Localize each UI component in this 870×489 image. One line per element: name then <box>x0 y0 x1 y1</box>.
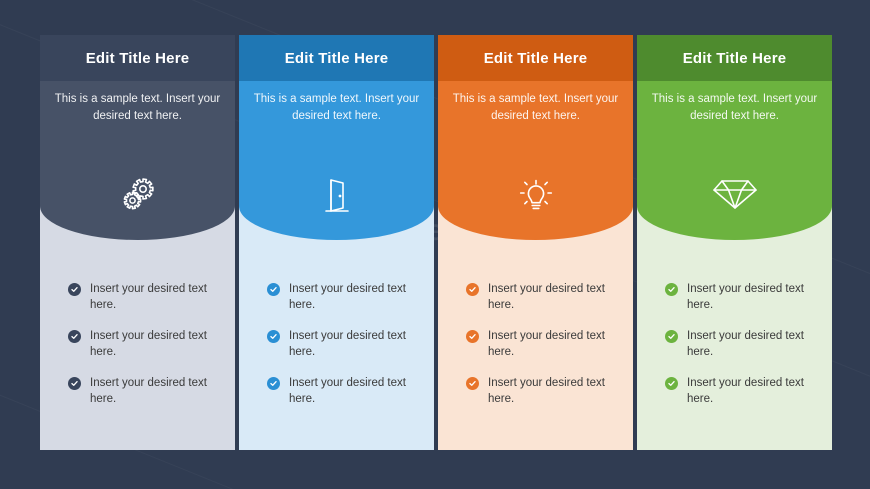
column-title[interactable]: Edit Title Here <box>683 50 787 67</box>
list-item[interactable]: Insert your desired text here. <box>68 328 219 360</box>
list-item-label: Insert your desired text here. <box>90 375 219 407</box>
list-item-label: Insert your desired text here. <box>687 375 816 407</box>
column-4: Edit Title HereThis is a sample text. In… <box>637 35 832 450</box>
list-item-label: Insert your desired text here. <box>687 281 816 313</box>
lightbulb-icon <box>438 175 633 215</box>
list-item[interactable]: Insert your desired text here. <box>466 375 617 407</box>
list-item-label: Insert your desired text here. <box>289 328 418 360</box>
diamond-icon <box>637 175 832 211</box>
gears-icon <box>40 175 235 213</box>
list-item[interactable]: Insert your desired text here. <box>665 375 816 407</box>
column-header: Edit Title Here <box>438 35 633 81</box>
check-circle-icon <box>267 377 280 390</box>
list-item-label: Insert your desired text here. <box>488 281 617 313</box>
column-header: Edit Title Here <box>40 35 235 81</box>
column-title[interactable]: Edit Title Here <box>484 50 588 67</box>
columns-container: Edit Title HereThis is a sample text. In… <box>40 35 832 450</box>
column-1: Edit Title HereThis is a sample text. In… <box>40 35 235 450</box>
check-circle-icon <box>466 377 479 390</box>
list-item[interactable]: Insert your desired text here. <box>267 375 418 407</box>
check-circle-icon <box>665 330 678 343</box>
check-circle-icon <box>466 283 479 296</box>
column-description[interactable]: This is a sample text. Insert your desir… <box>52 91 223 125</box>
column-2: Edit Title HereThis is a sample text. In… <box>239 35 434 450</box>
list-item[interactable]: Insert your desired text here. <box>68 375 219 407</box>
list-item[interactable]: Insert your desired text here. <box>466 328 617 360</box>
list-item-label: Insert your desired text here. <box>90 328 219 360</box>
check-circle-icon <box>665 283 678 296</box>
check-circle-icon <box>665 377 678 390</box>
check-circle-icon <box>466 330 479 343</box>
column-bullet-list: Insert your desired text here.Insert you… <box>40 281 235 450</box>
list-item[interactable]: Insert your desired text here. <box>665 328 816 360</box>
list-item-label: Insert your desired text here. <box>289 375 418 407</box>
column-description[interactable]: This is a sample text. Insert your desir… <box>649 91 820 125</box>
column-title[interactable]: Edit Title Here <box>285 50 389 67</box>
column-header: Edit Title Here <box>239 35 434 81</box>
column-description[interactable]: This is a sample text. Insert your desir… <box>450 91 621 125</box>
column-bullet-list: Insert your desired text here.Insert you… <box>239 281 434 450</box>
list-item-label: Insert your desired text here. <box>90 281 219 313</box>
column-bullet-list: Insert your desired text here.Insert you… <box>637 281 832 450</box>
list-item[interactable]: Insert your desired text here. <box>466 281 617 313</box>
list-item[interactable]: Insert your desired text here. <box>665 281 816 313</box>
list-item-label: Insert your desired text here. <box>488 375 617 407</box>
check-circle-icon <box>267 330 280 343</box>
column-title[interactable]: Edit Title Here <box>86 50 190 67</box>
check-circle-icon <box>68 283 81 296</box>
column-3: Edit Title HereThis is a sample text. In… <box>438 35 633 450</box>
list-item[interactable]: Insert your desired text here. <box>267 328 418 360</box>
column-header: Edit Title Here <box>637 35 832 81</box>
check-circle-icon <box>68 377 81 390</box>
list-item-label: Insert your desired text here. <box>488 328 617 360</box>
open-door-icon <box>239 175 434 215</box>
check-circle-icon <box>267 283 280 296</box>
column-bullet-list: Insert your desired text here.Insert you… <box>438 281 633 450</box>
list-item[interactable]: Insert your desired text here. <box>68 281 219 313</box>
list-item-label: Insert your desired text here. <box>289 281 418 313</box>
check-circle-icon <box>68 330 81 343</box>
column-description[interactable]: This is a sample text. Insert your desir… <box>251 91 422 125</box>
slide-canvas: SlideModel .com Edit Title HereThis is a… <box>0 0 870 489</box>
list-item-label: Insert your desired text here. <box>687 328 816 360</box>
list-item[interactable]: Insert your desired text here. <box>267 281 418 313</box>
